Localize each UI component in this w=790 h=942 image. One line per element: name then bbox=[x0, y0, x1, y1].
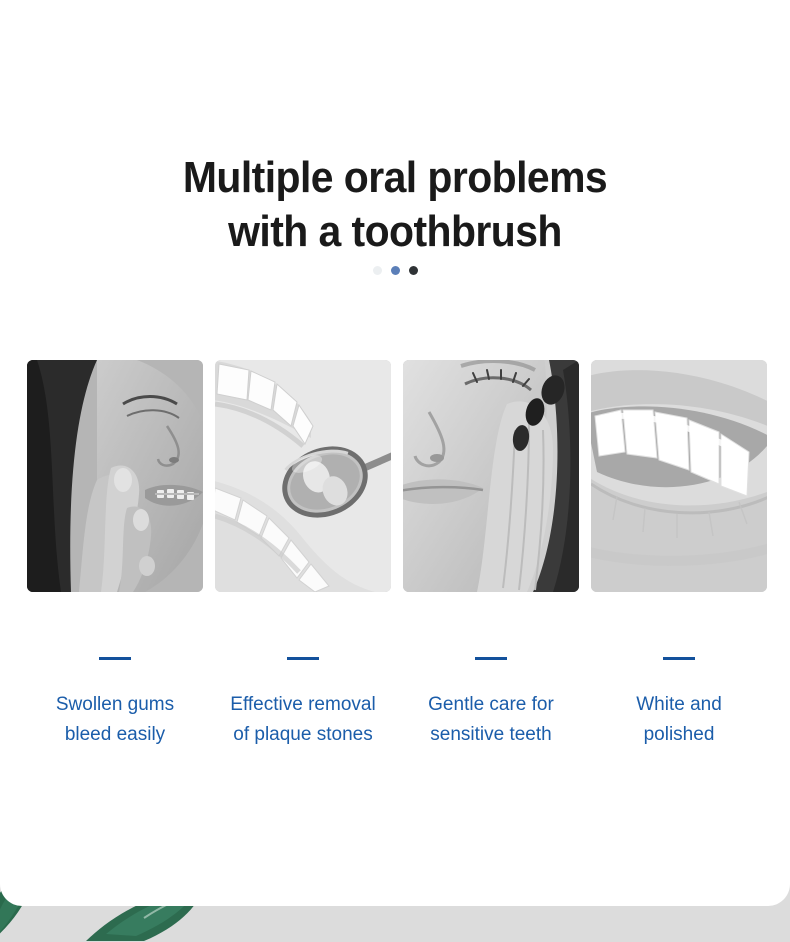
page-title-line-2: with a toothbrush bbox=[28, 205, 763, 259]
feature-caption-4: White and polished bbox=[591, 650, 767, 750]
caption-text-2: Effective removal of plaque stones bbox=[215, 690, 391, 750]
caption-divider-1 bbox=[99, 657, 131, 660]
feature-caption-1: Swollen gums bleed easily bbox=[27, 650, 203, 750]
caption-divider-4 bbox=[663, 657, 695, 660]
carousel-dot-3[interactable] bbox=[409, 266, 418, 275]
feature-image-white-polished[interactable] bbox=[591, 360, 767, 592]
carousel-dot-1[interactable] bbox=[373, 266, 382, 275]
feature-image-plaque-removal[interactable] bbox=[215, 360, 391, 592]
feature-caption-3: Gentle care for sensitive teeth bbox=[403, 650, 579, 750]
caption-divider-2 bbox=[287, 657, 319, 660]
caption-text-4: White and polished bbox=[591, 690, 767, 750]
caption-text-3: Gentle care for sensitive teeth bbox=[403, 690, 579, 750]
feature-caption-2: Effective removal of plaque stones bbox=[215, 650, 391, 750]
caption-text-1: Swollen gums bleed easily bbox=[27, 690, 203, 750]
feature-image-sensitive-teeth[interactable] bbox=[403, 360, 579, 592]
page-title: Multiple oral problems with a toothbrush bbox=[28, 151, 763, 259]
content-panel: Multiple oral problems with a toothbrush bbox=[0, 0, 790, 906]
feature-caption-row: Swollen gums bleed easily Effective remo… bbox=[27, 650, 763, 750]
caption-divider-3 bbox=[475, 657, 507, 660]
page-title-line-1: Multiple oral problems bbox=[28, 151, 763, 205]
carousel-dot-2[interactable] bbox=[391, 266, 400, 275]
feature-image-row bbox=[27, 360, 763, 592]
feature-image-swollen-gums[interactable] bbox=[27, 360, 203, 592]
carousel-dots bbox=[0, 266, 790, 275]
